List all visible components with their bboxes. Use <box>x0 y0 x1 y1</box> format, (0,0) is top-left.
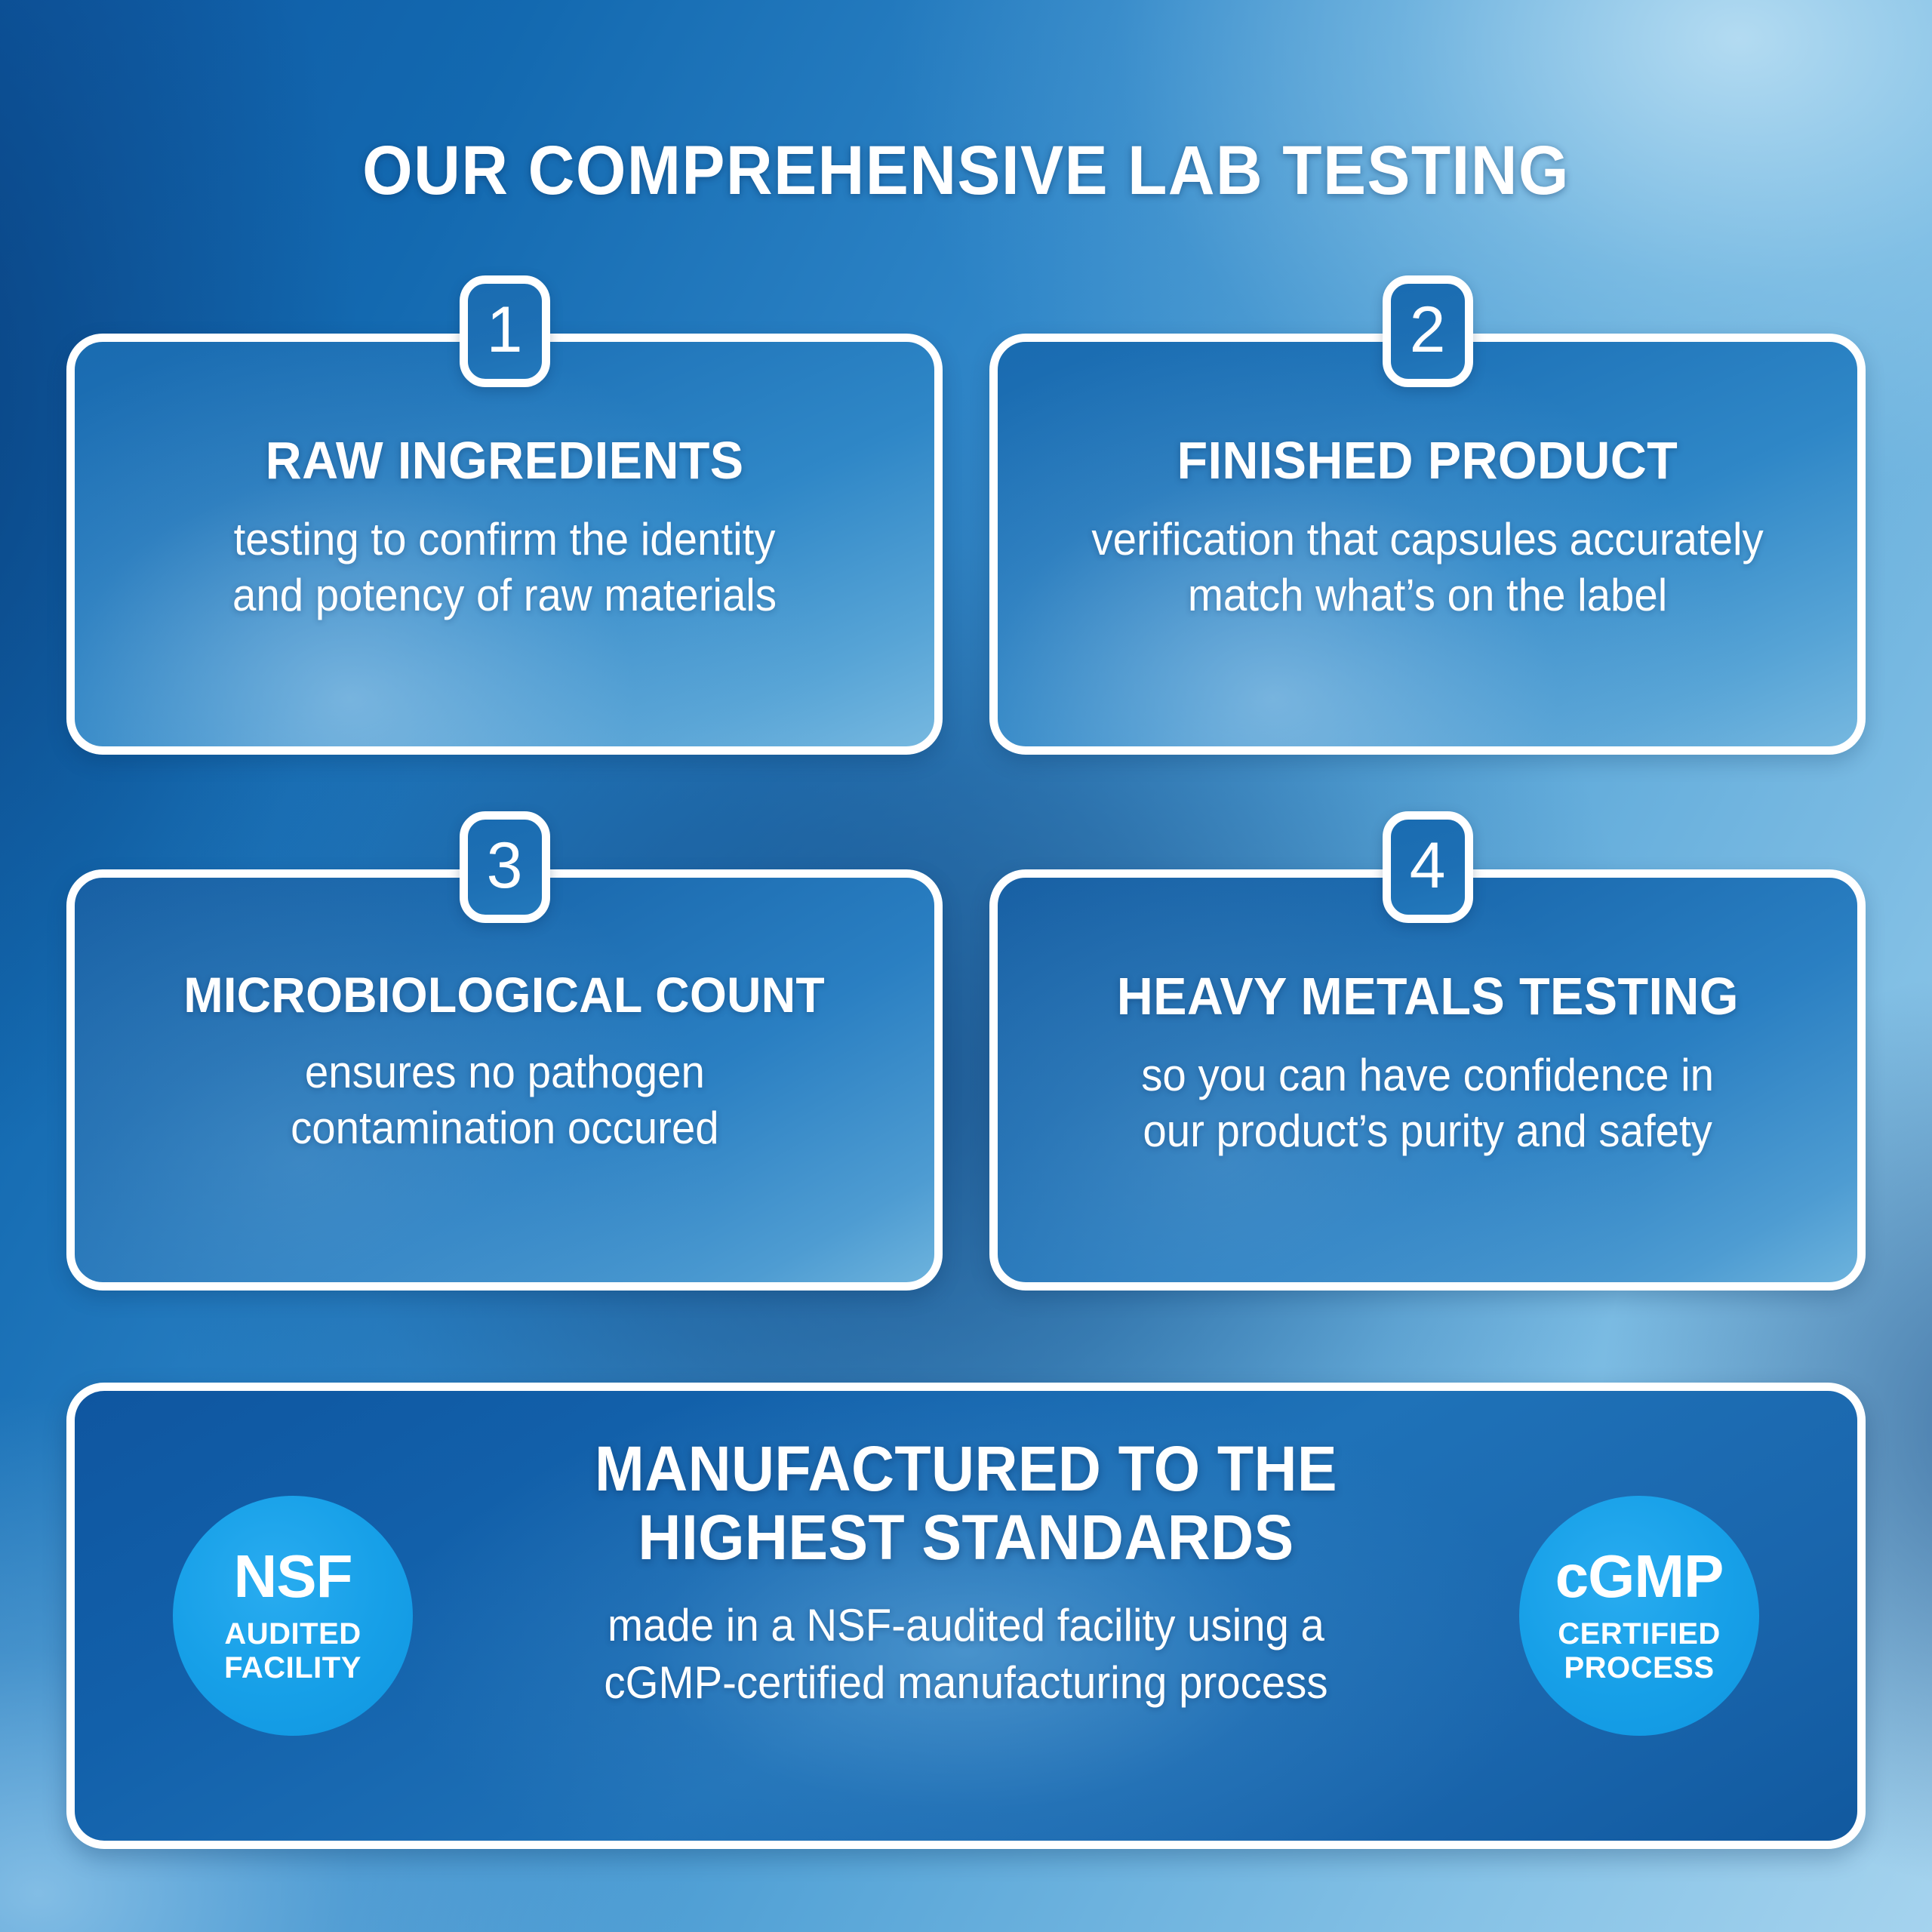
page-title: OUR COMPREHENSIVE LAB TESTING <box>68 136 1865 205</box>
step-number-badge-3: 3 <box>460 811 550 923</box>
card-description-microbiological-count: ensures no pathogen contamination occure… <box>291 1044 718 1156</box>
card-description-raw-ingredients: testing to confirm the identity and pote… <box>232 512 777 623</box>
nsf-seal-main-label: NSF <box>234 1546 352 1607</box>
cgmp-seal-sub-label: CERTIFIED PROCESS <box>1558 1617 1721 1685</box>
banner-text-block: MANUFACTURED TO THE HIGHEST STANDARDS ma… <box>429 1435 1503 1712</box>
nsf-audited-facility-seal-icon: NSF AUDITED FACILITY <box>173 1496 413 1736</box>
testing-card-finished-product: 2 FINISHED PRODUCT verification that cap… <box>989 334 1866 755</box>
banner-description: made in a NSF-audited facility using a c… <box>462 1597 1471 1711</box>
card-title-raw-ingredients: RAW INGREDIENTS <box>266 434 744 488</box>
card-title-microbiological-count: MICROBIOLOGICAL COUNT <box>184 970 826 1020</box>
step-number-badge-1: 1 <box>460 275 550 387</box>
card-title-heavy-metals-testing: HEAVY METALS TESTING <box>1116 970 1738 1023</box>
testing-card-raw-ingredients: 1 RAW INGREDIENTS testing to confirm the… <box>66 334 943 755</box>
testing-card-heavy-metals-testing: 4 HEAVY METALS TESTING so you can have c… <box>989 869 1866 1291</box>
step-number-badge-4: 4 <box>1383 811 1473 923</box>
nsf-seal-sub-label: AUDITED FACILITY <box>224 1617 361 1685</box>
card-description-finished-product: verification that capsules accurately ma… <box>1091 512 1763 623</box>
cgmp-certified-process-seal-icon: cGMP CERTIFIED PROCESS <box>1519 1496 1759 1736</box>
testing-cards-grid: 1 RAW INGREDIENTS testing to confirm the… <box>66 334 1866 1291</box>
card-description-heavy-metals-testing: so you can have confidence in our produc… <box>1141 1048 1714 1159</box>
cgmp-seal-main-label: cGMP <box>1555 1546 1724 1607</box>
manufacturing-standards-banner: NSF AUDITED FACILITY MANUFACTURED TO THE… <box>66 1383 1866 1849</box>
card-title-finished-product: FINISHED PRODUCT <box>1177 434 1678 488</box>
infographic-canvas: OUR COMPREHENSIVE LAB TESTING 1 RAW INGR… <box>0 0 1932 1932</box>
step-number-badge-2: 2 <box>1383 275 1473 387</box>
banner-title: MANUFACTURED TO THE HIGHEST STANDARDS <box>462 1435 1471 1571</box>
testing-card-microbiological-count: 3 MICROBIOLOGICAL COUNT ensures no patho… <box>66 869 943 1291</box>
